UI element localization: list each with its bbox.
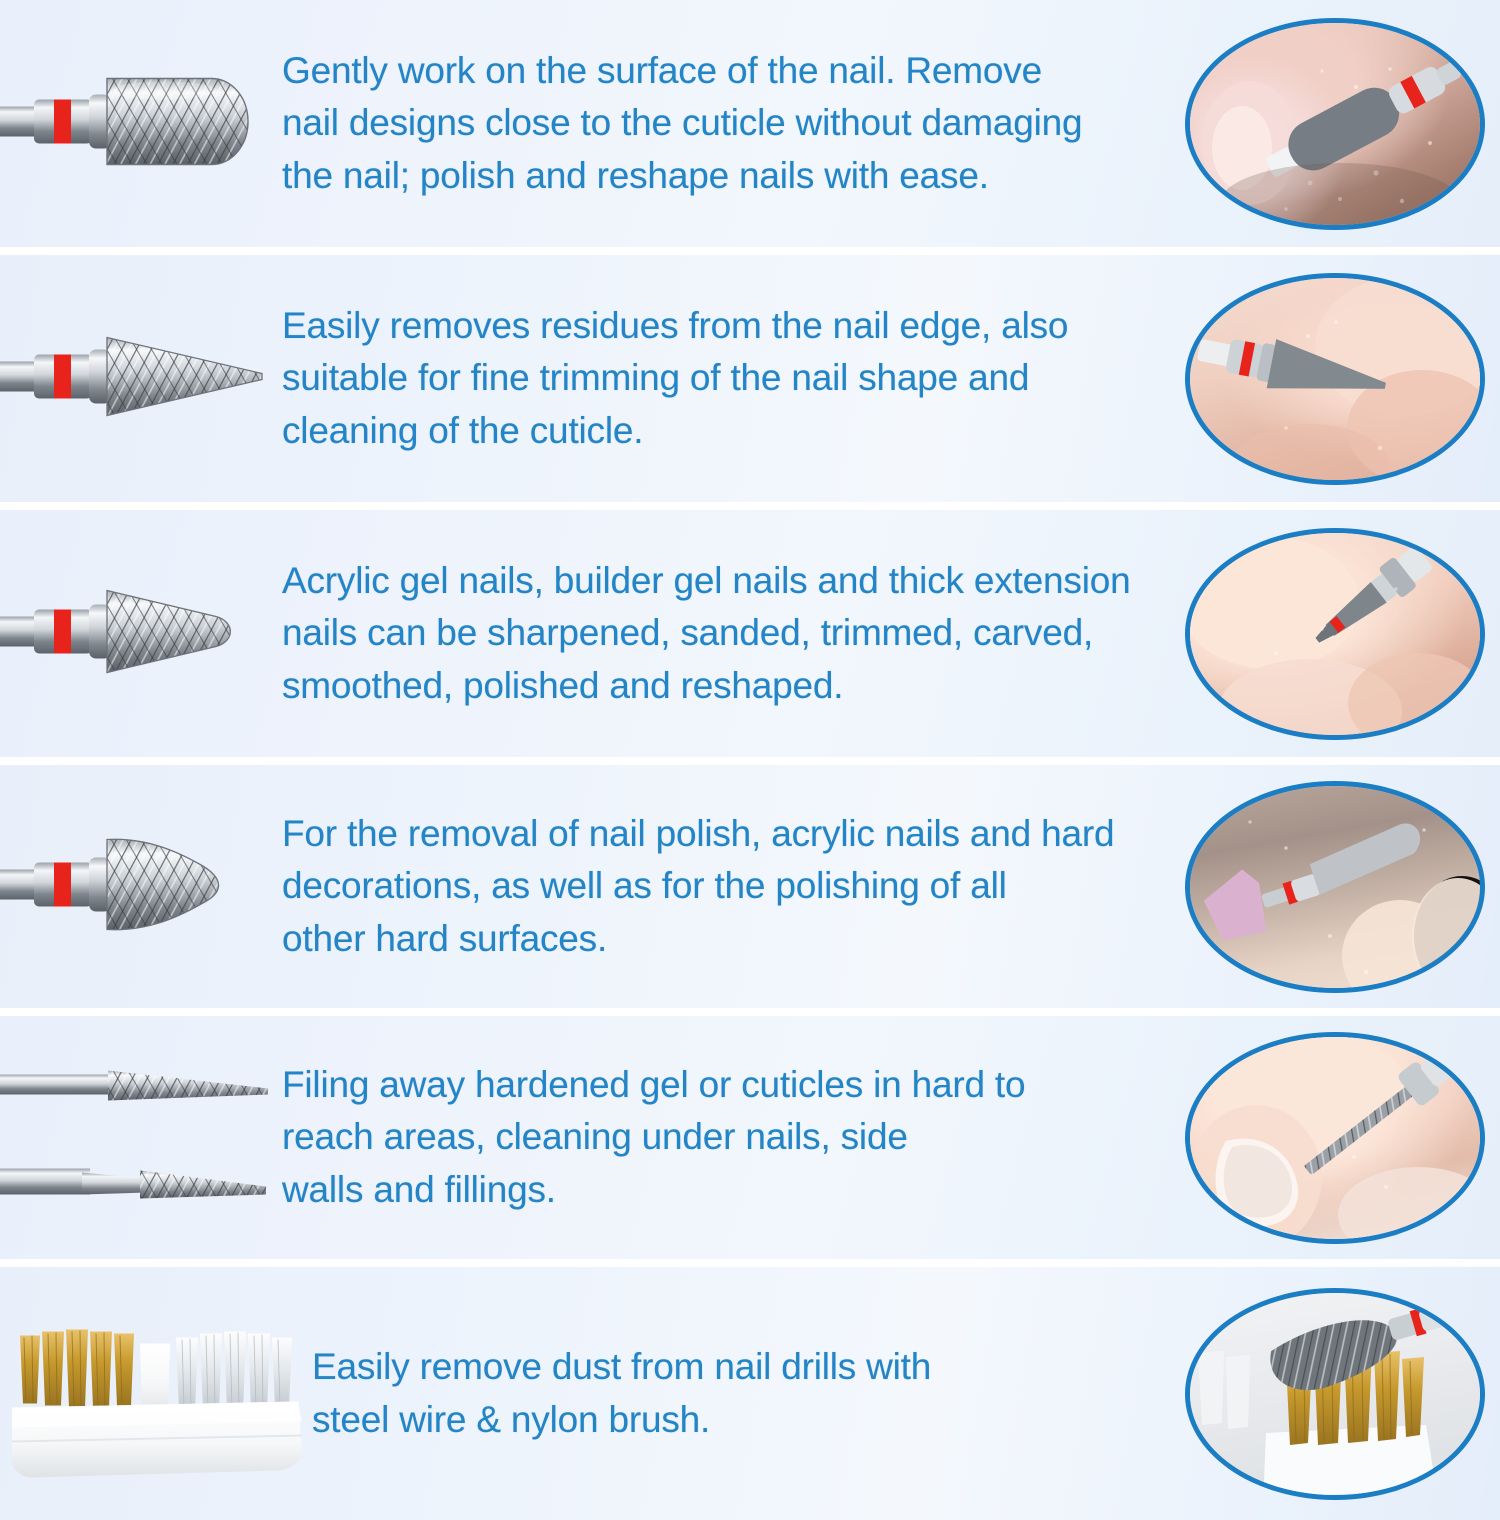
needle-bit-lower [0,1168,266,1198]
barrel-cylinder-carbide-bit [0,56,272,191]
row-separator-5 [0,1259,1500,1267]
bit-illustration-column-2 [0,255,270,502]
feature-photo-column-6 [1170,1267,1500,1520]
nylon-bristles [176,1331,292,1411]
feature-photo-column-1 [1170,0,1500,247]
feature-description-3: Acrylic gel nails, builder gel nails and… [282,555,1160,713]
photo-tapered-bit-on-acrylic-nail [1185,528,1485,740]
feature-photo-column-4 [1170,765,1500,1008]
flame-bullet-carbide-bit [0,819,272,954]
feature-photo-column-5 [1170,1016,1500,1259]
steel-wire-bristles [20,1329,134,1407]
feature-photo-column-3 [1170,510,1500,757]
feature-text-column-4: For the removal of nail polish, acrylic … [270,808,1170,966]
feature-row-2: Easily removes residues from the nail ed… [0,255,1500,502]
bit-illustration-column-4 [0,765,270,1008]
feature-row-3: Acrylic gel nails, builder gel nails and… [0,510,1500,757]
photo-flame-bit-removing-polish [1185,781,1485,993]
feature-row-4: For the removal of nail polish, acrylic … [0,765,1500,1008]
feature-text-column-2: Easily removes residues from the nail ed… [270,300,1170,458]
feature-text-column-5: Filing away hardened gel or cuticles in … [270,1059,1170,1217]
feature-description-1: Gently work on the surface of the nail. … [282,45,1160,203]
row-separator-3 [0,757,1500,765]
feature-text-column-3: Acrylic gel nails, builder gel nails and… [270,555,1170,713]
feature-description-6: Easily remove dust from nail drills with… [312,1341,1160,1446]
needle-point-carbide-bits-pair [0,1040,280,1235]
feature-text-column-6: Easily remove dust from nail drills with… [300,1341,1170,1446]
sharp-cone-carbide-bit [0,311,272,446]
row-separator-2 [0,502,1500,510]
feature-row-5: Filing away hardened gel or cuticles in … [0,1016,1500,1259]
bit-illustration-column-3 [0,510,270,757]
feature-photo-column-2 [1170,255,1500,502]
tapered-round-top-carbide-bit [0,566,272,701]
photo-barrel-bit-on-nail [1185,18,1485,230]
bit-illustration-column-5 [0,1016,270,1259]
feature-description-4: For the removal of nail polish, acrylic … [282,808,1160,966]
row-separator-4 [0,1008,1500,1016]
photo-needle-bit-under-nail [1185,1032,1485,1244]
feature-description-5: Filing away hardened gel or cuticles in … [282,1059,1160,1217]
feature-row-1: Gently work on the surface of the nail. … [0,0,1500,247]
feature-row-6: Easily remove dust from nail drills with… [0,1267,1500,1520]
bit-illustration-column-6 [0,1267,300,1520]
bit-illustration-column-1 [0,0,270,247]
needle-bit-upper [0,1070,268,1100]
photo-cone-bit-on-nail-edge [1185,273,1485,485]
feature-description-2: Easily removes residues from the nail ed… [282,300,1160,458]
product-feature-infographic: Gently work on the surface of the nail. … [0,0,1500,1500]
steel-wire-nylon-cleaning-brush [6,1281,306,1506]
photo-brush-cleaning-drill-bit [1185,1288,1485,1500]
feature-text-column-1: Gently work on the surface of the nail. … [270,45,1170,203]
row-separator-1 [0,247,1500,255]
